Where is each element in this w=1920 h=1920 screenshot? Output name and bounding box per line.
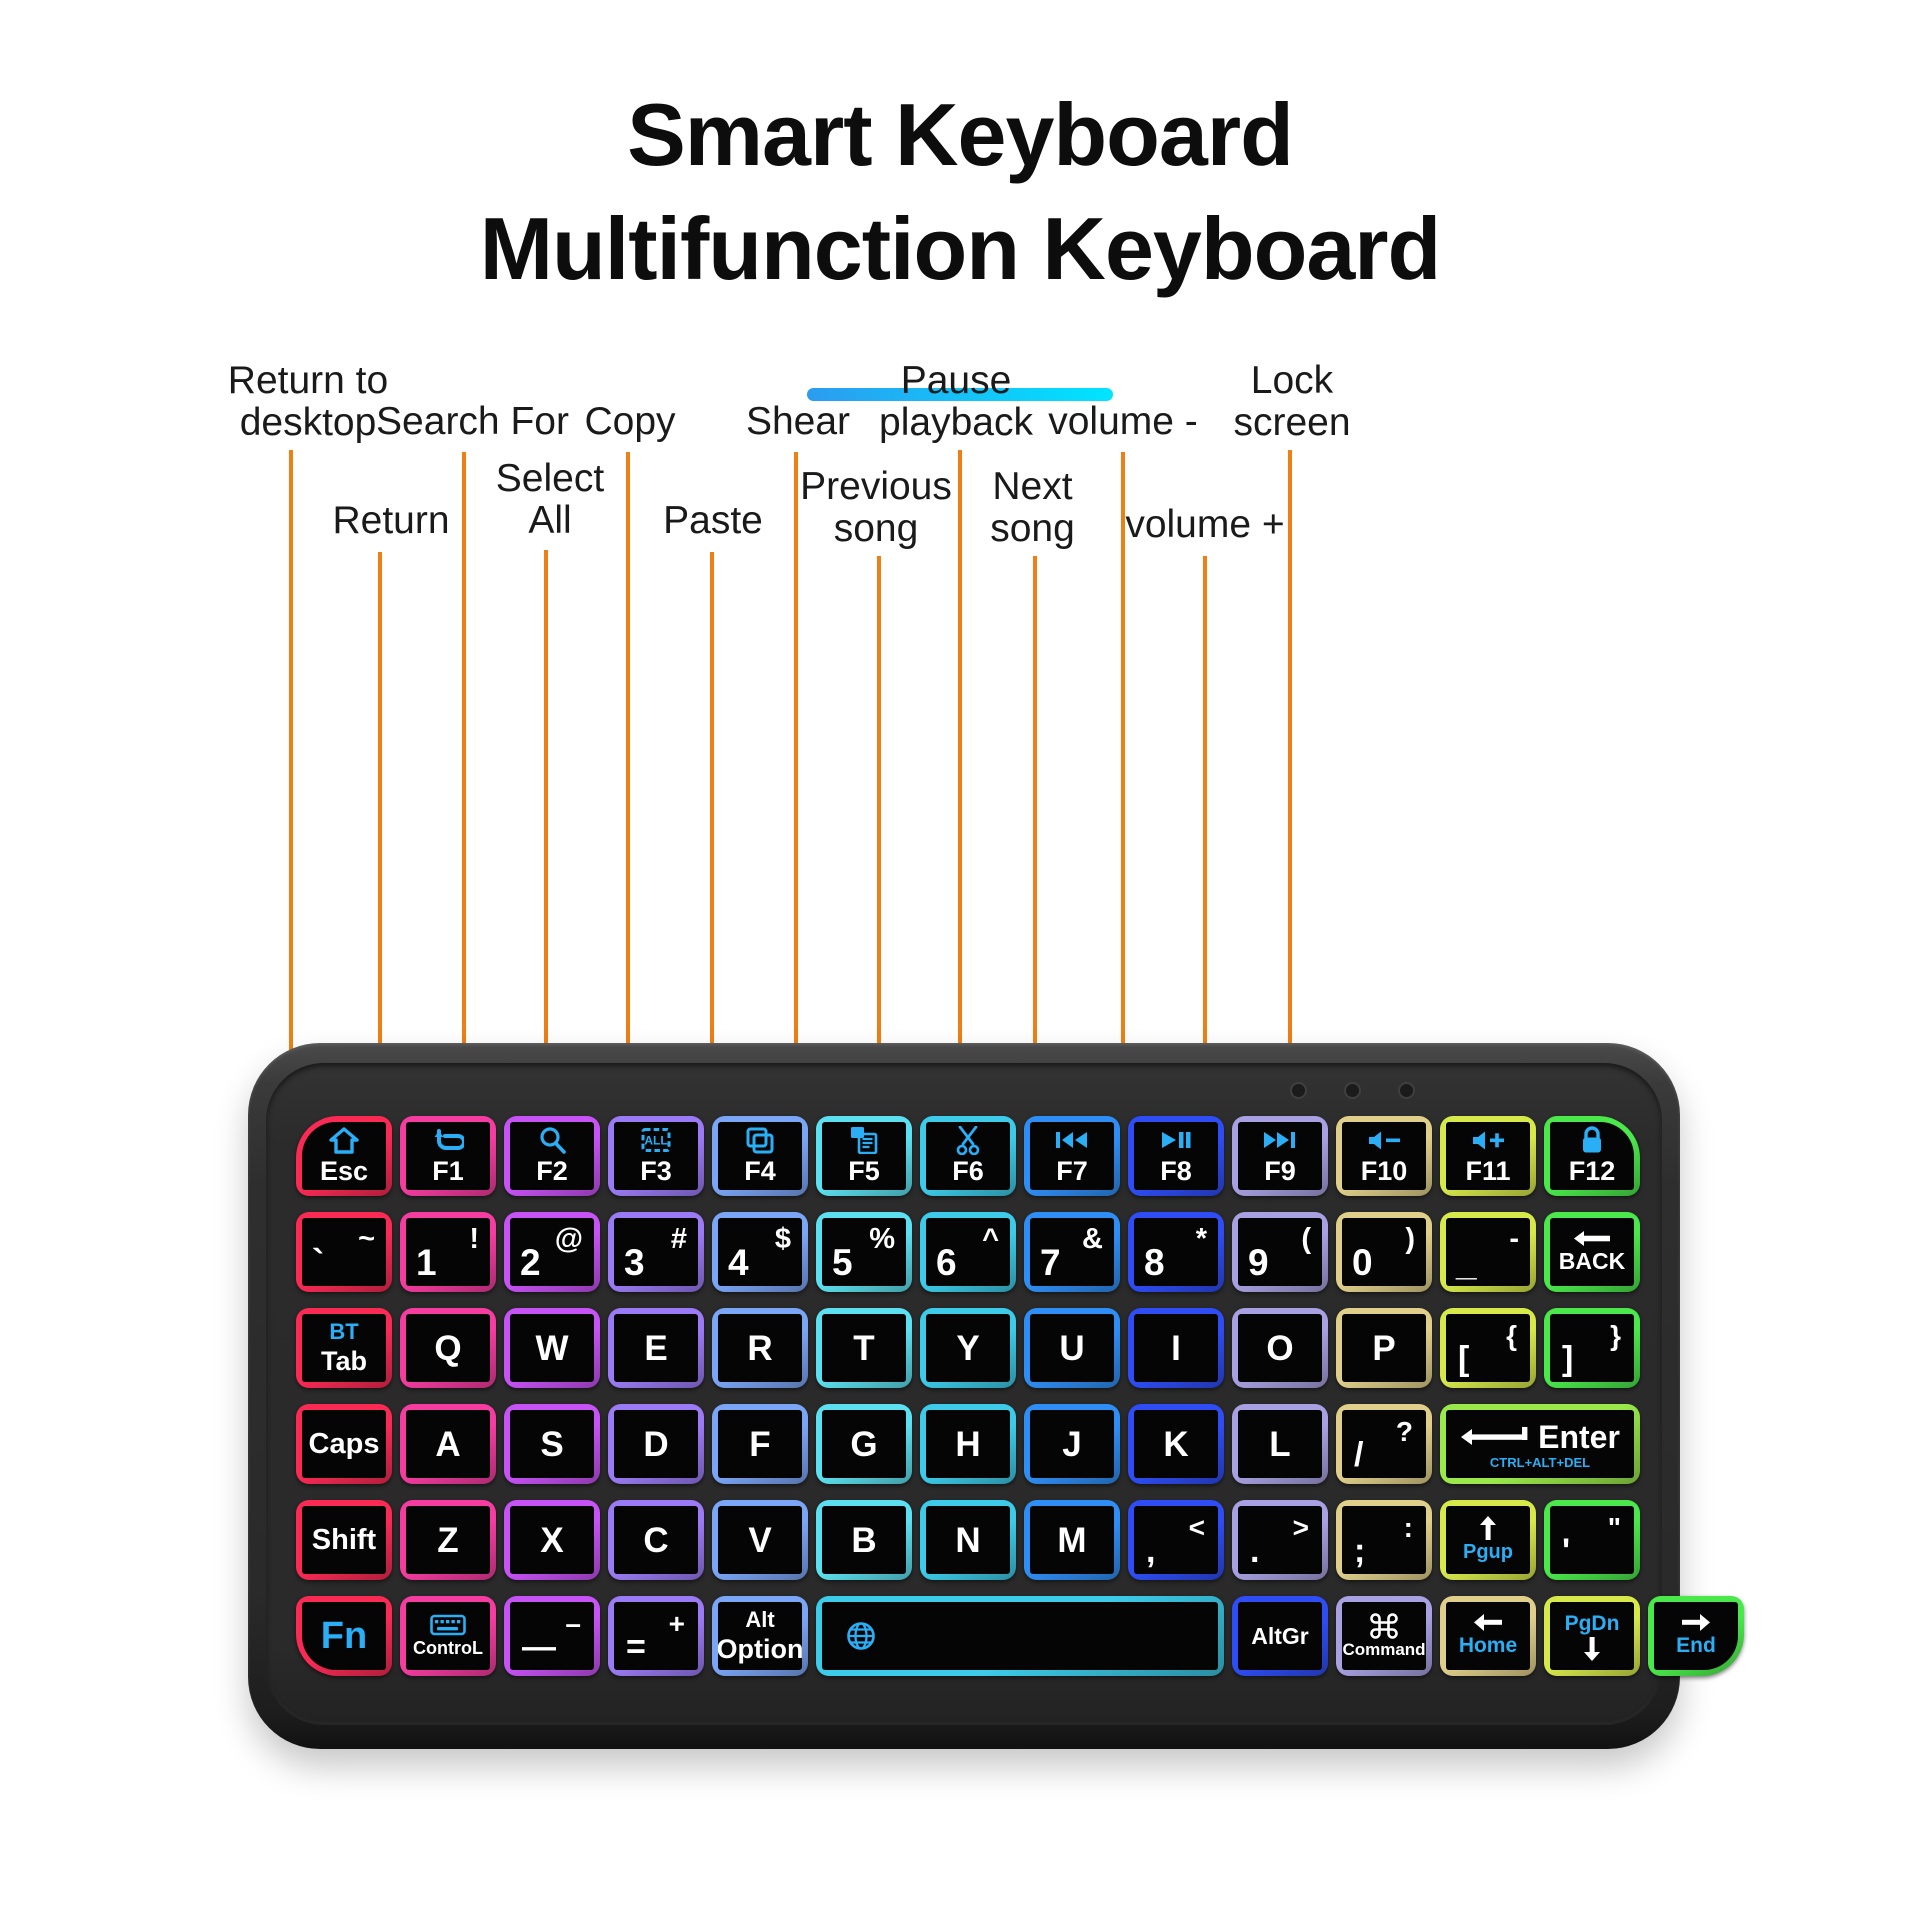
keycap-face: ,< <box>1134 1506 1218 1574</box>
key-y[interactable]: Y <box>920 1308 1016 1388</box>
callout-text: Previous <box>790 466 962 508</box>
key-primary-char: / <box>1354 1436 1363 1475</box>
key-primary-char: , <box>1146 1532 1155 1571</box>
key-top-label: Alt <box>745 1607 774 1633</box>
keycap-face: V <box>718 1506 802 1574</box>
keycap-face: F1 <box>406 1122 490 1190</box>
keycap-face: F12 <box>1550 1122 1634 1190</box>
key-dash[interactable]: —– <box>504 1596 600 1676</box>
key-primary-char: 9 <box>1248 1242 1269 1284</box>
key-primary-char: _ <box>1456 1242 1477 1284</box>
callout-text: Pause <box>870 360 1042 402</box>
key-primary-char: 8 <box>1144 1242 1165 1284</box>
keycap-face: Home <box>1446 1602 1530 1670</box>
key-primary-char: K <box>1163 1427 1188 1462</box>
key-end[interactable]: End <box>1648 1596 1744 1676</box>
key-primary-char: P <box>1372 1331 1395 1366</box>
key-primary-char: A <box>435 1427 460 1462</box>
key-label: ControL <box>413 1638 483 1659</box>
key-label: F5 <box>848 1156 880 1187</box>
key-label: F6 <box>952 1156 984 1187</box>
keycap-face: W <box>510 1314 594 1382</box>
keycap-face: /? <box>1342 1410 1426 1478</box>
keycap-face: ;: <box>1342 1506 1426 1574</box>
callout-text: Return to <box>222 360 394 402</box>
callout-text: Return <box>305 500 477 542</box>
keycap-face: H <box>926 1410 1010 1478</box>
key-bracket-left[interactable]: [{ <box>1440 1308 1536 1388</box>
home-row: CapsASDFGHJKL/?EnterCTRL+ALT+DEL <box>296 1404 1634 1484</box>
command-icon <box>1370 1613 1398 1639</box>
key-label: F12 <box>1569 1156 1616 1187</box>
keycap-face: ControL <box>406 1602 490 1670</box>
key-label: F9 <box>1264 1156 1296 1187</box>
key-primary-char: B <box>851 1523 876 1558</box>
key-primary-char: ; <box>1354 1532 1365 1571</box>
key-quote[interactable]: '" <box>1544 1500 1640 1580</box>
key-primary-char: U <box>1059 1331 1084 1366</box>
key-secondary-char: # <box>671 1223 687 1256</box>
key-8[interactable]: 8* <box>1128 1212 1224 1292</box>
key-label: Caps <box>309 1430 380 1459</box>
key-f9[interactable]: F9 <box>1232 1116 1328 1196</box>
key-semicolon[interactable]: ;: <box>1336 1500 1432 1580</box>
key-primary-char: T <box>853 1331 874 1366</box>
callout-return: Return <box>305 500 477 542</box>
key-primary-char: 0 <box>1352 1242 1373 1284</box>
home-icon <box>329 1125 359 1155</box>
key-secondary-char: " <box>1608 1512 1621 1544</box>
keycap-face: 3# <box>614 1218 698 1286</box>
key-f2[interactable]: F2 <box>504 1116 600 1196</box>
keycap-face: End <box>1654 1602 1738 1670</box>
key-i[interactable]: I <box>1128 1308 1224 1388</box>
search-icon <box>538 1125 566 1155</box>
select-all-icon: ALL <box>641 1125 671 1155</box>
svg-text:ALL: ALL <box>644 1134 667 1148</box>
keycap-face: 4$ <box>718 1218 802 1286</box>
key-g[interactable]: G <box>816 1404 912 1484</box>
key-label: Home <box>1459 1634 1517 1658</box>
key-3[interactable]: 3# <box>608 1212 704 1292</box>
key-label: F7 <box>1056 1156 1088 1187</box>
arrow-down-icon <box>1584 1637 1600 1661</box>
key-label: Command <box>1342 1640 1425 1660</box>
callout-text: playback <box>870 402 1042 444</box>
callout-next-song: Nextsong <box>960 466 1105 550</box>
keycap-face: =+ <box>614 1602 698 1670</box>
key-q[interactable]: Q <box>400 1308 496 1388</box>
keycap-face: B <box>822 1506 906 1574</box>
callout-paste: Paste <box>633 500 793 542</box>
key-primary-char: 5 <box>832 1242 853 1284</box>
backspace-arrow-icon <box>1573 1230 1611 1247</box>
key-primary-char: R <box>747 1331 772 1366</box>
key-label: F10 <box>1361 1156 1408 1187</box>
key-primary-char: M <box>1057 1523 1086 1558</box>
key-f10[interactable]: F10 <box>1336 1116 1432 1196</box>
key-label: BACK <box>1559 1248 1625 1275</box>
key-e[interactable]: E <box>608 1308 704 1388</box>
key-t[interactable]: T <box>816 1308 912 1388</box>
key-shift[interactable]: Shift <box>296 1500 392 1580</box>
key-primary-char: X <box>540 1523 563 1558</box>
keycap-face: F11 <box>1446 1122 1530 1190</box>
keycap-face: AltGr <box>1238 1602 1322 1670</box>
key-label: F8 <box>1160 1156 1192 1187</box>
key-label: Shift <box>312 1526 376 1555</box>
keycap-face: `~ <box>302 1218 386 1286</box>
key-f1[interactable]: F1 <box>400 1116 496 1196</box>
key-x[interactable]: X <box>504 1500 600 1580</box>
title-line-1: Smart Keyboard <box>0 78 1920 192</box>
key-primary-char: W <box>535 1331 568 1366</box>
callout-text: volume - <box>1043 401 1203 443</box>
key-a[interactable]: A <box>400 1404 496 1484</box>
led-indicator <box>1344 1082 1361 1099</box>
undo-arrow-icon <box>433 1125 464 1155</box>
callout-select-all: SelectAll <box>470 458 630 542</box>
key-secondary-char: ) <box>1405 1223 1415 1256</box>
key-primary-char: 1 <box>416 1242 437 1284</box>
play-pause-icon <box>1160 1125 1192 1155</box>
copy-icon <box>746 1125 774 1155</box>
keycap-face: ]} <box>1550 1314 1634 1382</box>
keycap-face: 7& <box>1030 1218 1114 1286</box>
key-secondary-char: ~ <box>358 1223 375 1256</box>
key-secondary-char: – <box>565 1608 581 1640</box>
key-secondary-char: ^ <box>982 1223 999 1256</box>
callout-text: Copy <box>550 401 710 443</box>
keycap-face: Command <box>1342 1602 1426 1670</box>
keycap-face: _- <box>1446 1218 1530 1286</box>
key-comma[interactable]: ,< <box>1128 1500 1224 1580</box>
key-backspace[interactable]: BACK <box>1544 1212 1640 1292</box>
key-primary-char: I <box>1171 1331 1181 1366</box>
key-0[interactable]: 0) <box>1336 1212 1432 1292</box>
keycap-face: [{ <box>1446 1314 1530 1382</box>
key-control[interactable]: ControL <box>400 1596 496 1676</box>
key-label: End <box>1676 1634 1716 1658</box>
key-z[interactable]: Z <box>400 1500 496 1580</box>
key-primary-char: H <box>955 1427 980 1462</box>
arrow-up-icon <box>1480 1516 1496 1540</box>
key-label: F3 <box>640 1156 672 1187</box>
key-f7[interactable]: F7 <box>1024 1116 1120 1196</box>
key-primary-char: E <box>644 1331 667 1366</box>
key-esc[interactable]: Esc <box>296 1116 392 1196</box>
keycap-face: Caps <box>302 1410 386 1478</box>
keycap-face: P <box>1342 1314 1426 1382</box>
keycap-face: D <box>614 1410 698 1478</box>
key-label: F4 <box>744 1156 776 1187</box>
key-secondary-char: % <box>869 1223 895 1256</box>
keycap-face: F7 <box>1030 1122 1114 1190</box>
leader-line-return-to-desktop <box>289 450 293 1152</box>
keycap-face: E <box>614 1314 698 1382</box>
keycap-face: Q <box>406 1314 490 1382</box>
key-m[interactable]: M <box>1024 1500 1120 1580</box>
callout-text: Search For <box>375 401 570 443</box>
key-fn[interactable]: Fn <box>296 1596 392 1676</box>
callout-text: Select <box>470 458 630 500</box>
key-f3[interactable]: ALLF3 <box>608 1116 704 1196</box>
key-primary-char: V <box>748 1523 771 1558</box>
key-j[interactable]: J <box>1024 1404 1120 1484</box>
keycap-face: F4 <box>718 1122 802 1190</box>
number-row: `~1!2@3#4$5%6^7&8*9(0)_-BACK <box>296 1212 1634 1292</box>
key-primary-char: N <box>955 1523 980 1558</box>
keycap-face: 5% <box>822 1218 906 1286</box>
keycap-face: .> <box>1238 1506 1322 1574</box>
keycap-face: 9( <box>1238 1218 1322 1286</box>
key-command[interactable]: Command <box>1336 1596 1432 1676</box>
key-c[interactable]: C <box>608 1500 704 1580</box>
key-primary-char: D <box>643 1427 668 1462</box>
key-secondary-char: > <box>1293 1512 1309 1544</box>
key-equals[interactable]: =+ <box>608 1596 704 1676</box>
keycap-face: R <box>718 1314 802 1382</box>
keycap-face: 0) <box>1342 1218 1426 1286</box>
key-1[interactable]: 1! <box>400 1212 496 1292</box>
key-label: Esc <box>320 1156 368 1187</box>
key-h[interactable]: H <box>920 1404 1016 1484</box>
callout-text: song <box>960 508 1105 550</box>
key-secondary-char: @ <box>555 1223 583 1256</box>
callout-text: song <box>790 508 962 550</box>
callout-text: Lock <box>1212 360 1372 402</box>
key-space[interactable] <box>816 1596 1224 1676</box>
key-pgup[interactable]: Pgup <box>1440 1500 1536 1580</box>
key-secondary-char: - <box>1509 1223 1519 1256</box>
callout-shear: Shear <box>718 401 878 443</box>
keycap-face: F2 <box>510 1122 594 1190</box>
keycap-face: F8 <box>1134 1122 1218 1190</box>
key-primary-char: F <box>749 1427 770 1462</box>
key-secondary-char: $ <box>775 1223 791 1256</box>
key-primary-char: Z <box>437 1523 458 1558</box>
callout-text: Paste <box>633 500 793 542</box>
keycap-face: Esc <box>302 1122 386 1190</box>
key-n[interactable]: N <box>920 1500 1016 1580</box>
key-primary-char: G <box>850 1427 877 1462</box>
keycap-face: BTTab <box>302 1314 386 1382</box>
key-primary-char: 4 <box>728 1242 749 1284</box>
keycap-face: I <box>1134 1314 1218 1382</box>
key-primary-char: O <box>1266 1331 1293 1366</box>
callout-text: screen <box>1212 402 1372 444</box>
key-f5[interactable]: F5 <box>816 1116 912 1196</box>
keycap-face: Shift <box>302 1506 386 1574</box>
page-title: Smart Keyboard Multifunction Keyboard <box>0 78 1920 307</box>
volume-down-icon <box>1367 1125 1401 1155</box>
keycap-face: O <box>1238 1314 1322 1382</box>
key-k[interactable]: K <box>1128 1404 1224 1484</box>
volume-up-icon <box>1471 1125 1505 1155</box>
key-alt[interactable]: AltOption <box>712 1596 808 1676</box>
keycap-face: EnterCTRL+ALT+DEL <box>1446 1410 1634 1478</box>
key-label: Enter <box>1538 1421 1620 1453</box>
keycap-face: 2@ <box>510 1218 594 1286</box>
key-label: F1 <box>432 1156 464 1187</box>
arrow-left-icon <box>1474 1614 1502 1631</box>
key-f[interactable]: F <box>712 1404 808 1484</box>
lock-icon <box>1581 1125 1603 1155</box>
keycap-face: F6 <box>926 1122 1010 1190</box>
callout-previous-song: Previoussong <box>790 466 962 550</box>
key-primary-char: 3 <box>624 1242 645 1284</box>
keycap-face: C <box>614 1506 698 1574</box>
key-primary-char: L <box>1269 1427 1290 1462</box>
keycap-face: K <box>1134 1410 1218 1478</box>
keycap-face: 6^ <box>926 1218 1010 1286</box>
keycap-face: PgDn <box>1550 1602 1634 1670</box>
callout-text: desktop <box>222 402 394 444</box>
next-track-icon <box>1263 1125 1297 1155</box>
keycap-face: S <box>510 1410 594 1478</box>
key-primary-char: [ <box>1458 1340 1469 1379</box>
keycap-face: T <box>822 1314 906 1382</box>
keycap-face: Fn <box>302 1602 386 1670</box>
bottom-row: FnControL—–=+AltOptionAltGrCommandHomePg… <box>296 1596 1634 1676</box>
callout-text: All <box>470 500 630 542</box>
key-primary-char: S <box>540 1427 563 1462</box>
key-label: AltGr <box>1251 1625 1309 1648</box>
keycap-face: AltOption <box>718 1602 802 1670</box>
callout-pause-playback: Pauseplayback <box>870 360 1042 444</box>
callout-text: Next <box>960 466 1105 508</box>
key-v[interactable]: V <box>712 1500 808 1580</box>
enter-arrow-icon <box>1460 1426 1536 1448</box>
key-u[interactable]: U <box>1024 1308 1120 1388</box>
keycap-face: Z <box>406 1506 490 1574</box>
key-secondary-char: : <box>1404 1512 1413 1544</box>
keycap-face: U <box>1030 1314 1114 1382</box>
keycap-face: A <box>406 1410 490 1478</box>
keycap-face: F5 <box>822 1122 906 1190</box>
callout-text: volume + <box>1125 504 1285 546</box>
key-l[interactable]: L <box>1232 1404 1328 1484</box>
key-backtick[interactable]: `~ <box>296 1212 392 1292</box>
key-primary-char: Y <box>956 1331 979 1366</box>
key-o[interactable]: O <box>1232 1308 1328 1388</box>
key-primary-char: ` <box>312 1242 324 1284</box>
key-primary-char: ' <box>1562 1532 1570 1571</box>
key-secondary-char: { <box>1506 1320 1517 1352</box>
function-row: EscF1F2ALLF3F4F5F6F7F8F9F10F11F12 <box>296 1116 1634 1196</box>
key-d[interactable]: D <box>608 1404 704 1484</box>
keycap-face: M <box>1030 1506 1114 1574</box>
key-slash[interactable]: /? <box>1336 1404 1432 1484</box>
key-top-label: BT <box>329 1319 358 1345</box>
key-enter[interactable]: EnterCTRL+ALT+DEL <box>1440 1404 1640 1484</box>
key-4[interactable]: 4$ <box>712 1212 808 1292</box>
keycap-face: 8* <box>1134 1218 1218 1286</box>
key-bracket-right[interactable]: ]} <box>1544 1308 1640 1388</box>
key-minus[interactable]: _- <box>1440 1212 1536 1292</box>
key-primary-char: = <box>626 1628 646 1667</box>
led-indicator <box>1398 1082 1415 1099</box>
key-f11[interactable]: F11 <box>1440 1116 1536 1196</box>
led-indicator <box>1290 1082 1307 1099</box>
key-f4[interactable]: F4 <box>712 1116 808 1196</box>
key-5[interactable]: 5% <box>816 1212 912 1292</box>
key-label: F11 <box>1465 1156 1510 1187</box>
key-label: Fn <box>321 1617 367 1655</box>
key-secondary-char: < <box>1189 1512 1205 1544</box>
key-r[interactable]: R <box>712 1308 808 1388</box>
key-primary-char: 6 <box>936 1242 957 1284</box>
key-2[interactable]: 2@ <box>504 1212 600 1292</box>
key-9[interactable]: 9( <box>1232 1212 1328 1292</box>
key-s[interactable]: S <box>504 1404 600 1484</box>
key-secondary-char: + <box>669 1608 685 1640</box>
globe-icon <box>846 1621 876 1651</box>
key-period[interactable]: .> <box>1232 1500 1328 1580</box>
key-home[interactable]: Home <box>1440 1596 1536 1676</box>
key-secondary-char: ( <box>1301 1223 1311 1256</box>
keycap-face: F10 <box>1342 1122 1426 1190</box>
key-pgdn[interactable]: PgDn <box>1544 1596 1640 1676</box>
paste-icon <box>850 1125 878 1155</box>
key-primary-char: C <box>643 1523 668 1558</box>
callout-return-to-desktop: Return todesktop <box>222 360 394 444</box>
key-altgr[interactable]: AltGr <box>1232 1596 1328 1676</box>
key-secondary-char: & <box>1082 1223 1103 1256</box>
key-primary-char: ] <box>1562 1340 1573 1379</box>
keycap-face: F <box>718 1410 802 1478</box>
key-secondary-char: ? <box>1396 1416 1413 1448</box>
key-label: Pgup <box>1463 1541 1513 1564</box>
key-f8[interactable]: F8 <box>1128 1116 1224 1196</box>
keycap-face: X <box>510 1506 594 1574</box>
callout-volume-up: volume + <box>1125 504 1285 546</box>
keycap-face: Y <box>926 1314 1010 1382</box>
keycap-face: 1! <box>406 1218 490 1286</box>
keycap-face: —– <box>510 1602 594 1670</box>
key-secondary-char: } <box>1610 1320 1621 1352</box>
scissors-icon <box>956 1125 980 1155</box>
key-tab[interactable]: BTTab <box>296 1308 392 1388</box>
shift-row: ShiftZXCVBNM,<.>;:Pgup'" <box>296 1500 1634 1580</box>
title-line-2: Multifunction Keyboard <box>0 192 1920 306</box>
key-7[interactable]: 7& <box>1024 1212 1120 1292</box>
key-bottom-label: Tab <box>321 1346 367 1377</box>
key-f12[interactable]: F12 <box>1544 1116 1640 1196</box>
key-6[interactable]: 6^ <box>920 1212 1016 1292</box>
keyboard-icon <box>430 1613 466 1637</box>
callout-search-for: Search For <box>375 401 570 443</box>
key-primary-char: 2 <box>520 1242 541 1284</box>
callout-volume-down: volume - <box>1043 401 1203 443</box>
key-w[interactable]: W <box>504 1308 600 1388</box>
key-primary-char: J <box>1062 1427 1081 1462</box>
qwerty-row: BTTabQWERTYUIOP[{]} <box>296 1308 1634 1388</box>
key-secondary-char: * <box>1196 1223 1207 1256</box>
key-grid[interactable]: EscF1F2ALLF3F4F5F6F7F8F9F10F11F12`~1!2@3… <box>296 1116 1634 1711</box>
key-f6[interactable]: F6 <box>920 1116 1016 1196</box>
key-p[interactable]: P <box>1336 1308 1432 1388</box>
key-secondary-char: ! <box>469 1223 479 1256</box>
key-capslock[interactable]: Caps <box>296 1404 392 1484</box>
arrow-right-icon <box>1682 1614 1710 1631</box>
key-b[interactable]: B <box>816 1500 912 1580</box>
callout-lock-screen: Lockscreen <box>1212 360 1372 444</box>
key-label: PgDn <box>1565 1612 1620 1636</box>
key-bottom-label: Option <box>718 1634 802 1665</box>
prev-track-icon <box>1055 1125 1089 1155</box>
key-primary-char: . <box>1250 1532 1259 1571</box>
